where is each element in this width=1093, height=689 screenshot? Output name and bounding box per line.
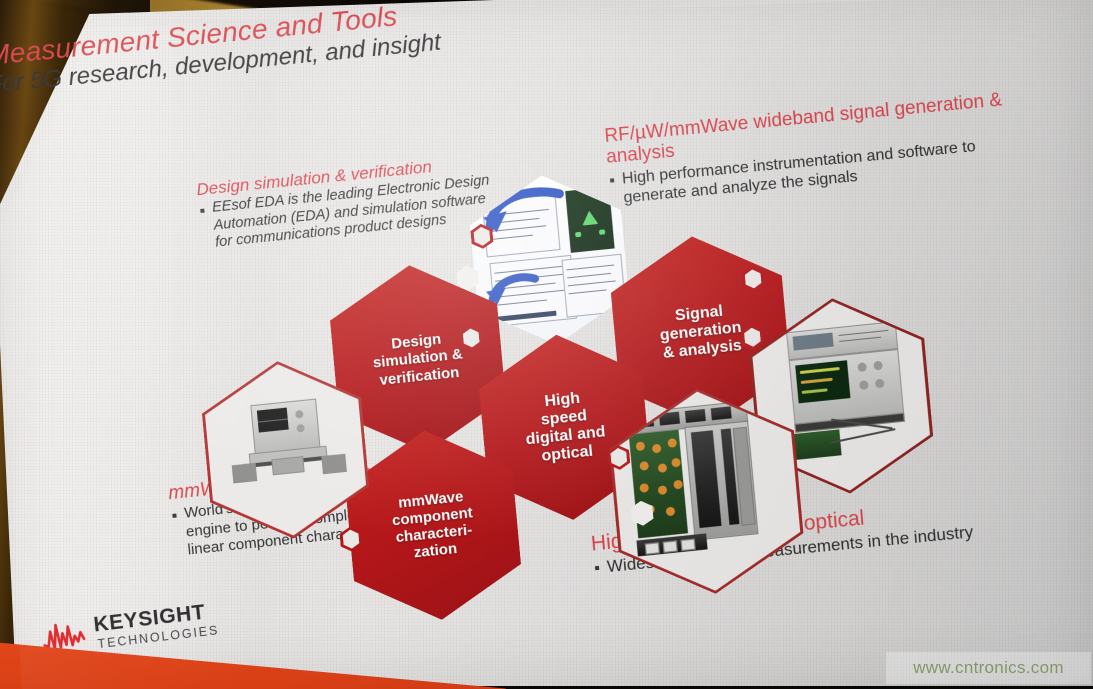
- hex-label: Designsimulation &verification: [361, 328, 475, 390]
- watermark-text: www.cntronics.com: [913, 658, 1064, 678]
- watermark: www.cntronics.com: [886, 652, 1091, 684]
- hexagon-diagram: Designsimulation &verification Signalgen…: [235, 140, 927, 586]
- hex-label: mmWavecomponentcharacteri-zation: [380, 486, 487, 564]
- hex-label: Signalgeneration& analysis: [648, 300, 754, 365]
- blue-arrow-icon: [484, 268, 541, 307]
- screenshot-canvas: Measurement Science and Tools For 5G res…: [0, 0, 1093, 689]
- slide-content: Measurement Science and Tools For 5G res…: [0, 0, 1093, 689]
- hex-label: Highspeeddigital andoptical: [512, 386, 618, 469]
- blue-arrow-icon: [479, 179, 573, 236]
